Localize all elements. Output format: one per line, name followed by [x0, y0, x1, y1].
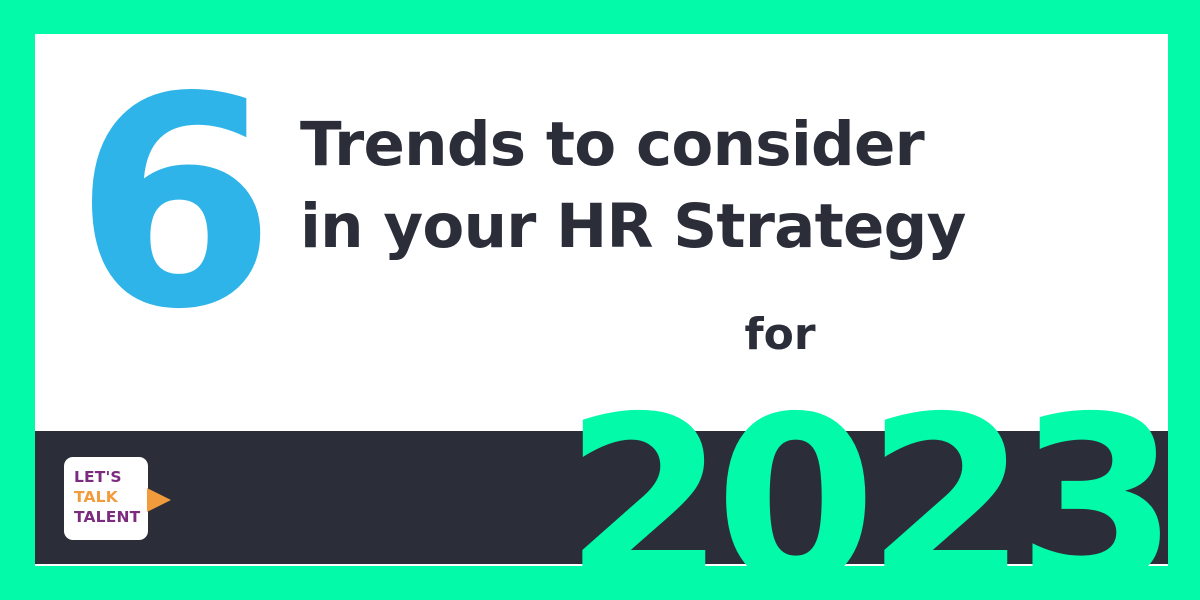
page-title: Trends to consider in your HR Strategy [300, 104, 1070, 268]
headline-line-2: in your HR Strategy [300, 186, 1070, 268]
logo[interactable]: LET'S TALK TALENT [64, 457, 148, 540]
logo-line-lets: LET'S [74, 467, 148, 487]
connector-word: for [620, 306, 940, 364]
poster-canvas: 6 Trends to consider in your HR Strategy… [0, 0, 1200, 600]
logo-line-talent: TALENT [74, 507, 148, 527]
lead-number: 6 [62, 60, 282, 350]
logo-card: LET'S TALK TALENT [64, 457, 148, 540]
play-triangle-icon [147, 488, 171, 512]
logo-line-talk: TALK [74, 487, 148, 507]
footer-bar [35, 431, 1168, 564]
headline-line-1: Trends to consider [300, 104, 1070, 186]
